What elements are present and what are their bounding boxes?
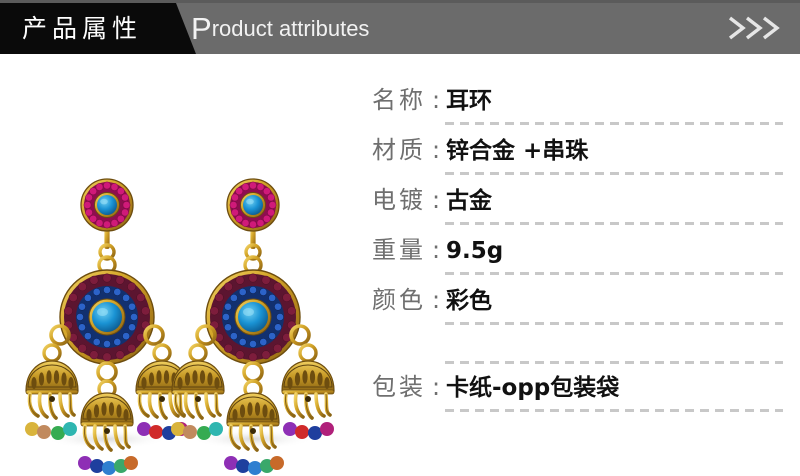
attribute-dashed-rule: [445, 172, 783, 175]
attribute-colon-material: :: [432, 133, 440, 167]
page-title-english-rest: roduct attributes: [212, 16, 370, 41]
attribute-dashed-rule: [445, 222, 783, 225]
attribute-value-color: 彩色: [446, 284, 492, 318]
attribute-value-plating: 古金: [446, 184, 492, 218]
triple-chevron-right-icon: [726, 13, 784, 43]
page-title-english: Product attributes: [191, 14, 369, 43]
attribute-row-weight: 重量 : 9.5g: [360, 231, 800, 277]
attribute-value-packaging: 卡纸-opp包装袋: [446, 371, 619, 405]
attribute-colon-color: :: [432, 283, 440, 317]
attribute-list: 名称 : 耳环 材质 : 锌合金 +串珠 电镀 : 古金 重量 : 9.5g 颜…: [360, 57, 800, 476]
attribute-row-name: 名称 : 耳环: [360, 81, 800, 127]
attribute-colon-plating: :: [432, 183, 440, 217]
attribute-colon-packaging: :: [432, 370, 440, 404]
earring-left: [25, 179, 188, 475]
attribute-label-plating: 电镀: [372, 183, 426, 217]
attribute-label-packaging: 包装: [372, 370, 426, 404]
product-photo: [0, 57, 360, 476]
attribute-row-material: 材质 : 锌合金 +串珠: [360, 131, 800, 177]
attribute-colon-weight: :: [432, 233, 440, 267]
attribute-row-empty: [360, 320, 800, 366]
attribute-row-packaging: 包装 : 卡纸-opp包装袋: [360, 368, 800, 414]
attribute-dashed-rule: [445, 409, 783, 412]
page-title-english-initial: P: [191, 11, 212, 46]
attribute-value-weight: 9.5g: [446, 234, 503, 268]
product-attributes-page: 产品属性 Product attributes: [0, 0, 800, 476]
attribute-label-color: 颜色: [372, 283, 426, 317]
page-title-chinese: 产品属性: [22, 12, 142, 45]
attribute-label-weight: 重量: [372, 233, 426, 267]
attribute-value-material: 锌合金 +串珠: [446, 134, 588, 168]
attribute-value-name: 耳环: [446, 84, 492, 118]
attribute-dashed-rule: [445, 272, 783, 275]
page-header: 产品属性 Product attributes: [0, 0, 800, 57]
earrings-illustration: [0, 57, 360, 476]
attribute-dashed-rule: [445, 122, 783, 125]
attribute-dashed-rule: [445, 361, 783, 364]
attribute-colon-name: :: [432, 83, 440, 117]
attribute-label-name: 名称: [372, 83, 426, 117]
attribute-row-plating: 电镀 : 古金: [360, 181, 800, 227]
attribute-label-material: 材质: [372, 133, 426, 167]
earring-right: [171, 179, 334, 475]
